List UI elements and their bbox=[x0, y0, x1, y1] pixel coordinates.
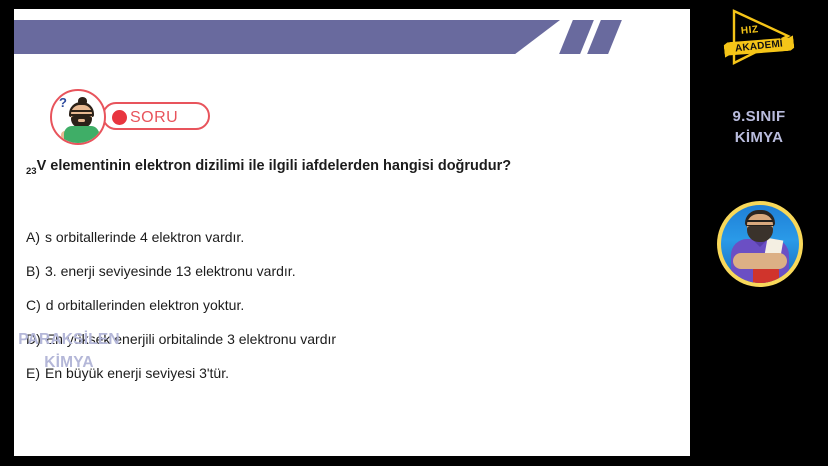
grade-line-1: 9.SINIF bbox=[690, 106, 828, 127]
soru-pill: SORU bbox=[102, 102, 210, 130]
question-subscript: 23 bbox=[26, 166, 37, 177]
option-b[interactable]: B) 3. enerji seviyesinde 13 elektronu va… bbox=[26, 261, 626, 281]
option-c[interactable]: C) d orbitallerinden elektron yoktur. bbox=[26, 295, 626, 315]
question-mark-icon: ? bbox=[59, 96, 67, 109]
option-a[interactable]: A) s orbitallerinde 4 elektron vardır. bbox=[26, 227, 626, 247]
banner-bar bbox=[14, 20, 560, 54]
soru-dot-icon bbox=[112, 110, 127, 125]
header-banner bbox=[14, 20, 690, 54]
option-c-key: C) bbox=[26, 295, 41, 315]
question-text: 23V elementinin elektron dizilimi ile il… bbox=[26, 155, 566, 183]
logo-top-word: HIZ bbox=[740, 24, 759, 37]
subject-line-1: PARAKSİLEN bbox=[0, 328, 138, 351]
option-c-text: d orbitallerinden elektron yoktur. bbox=[46, 295, 244, 315]
grade-line-2: KİMYA bbox=[690, 127, 828, 148]
brand-logo-icon: HIZ AKADEMİ bbox=[714, 6, 804, 70]
teacher-red-element bbox=[753, 267, 779, 283]
avatar-mouth bbox=[78, 119, 85, 122]
avatar-shirt bbox=[64, 126, 99, 145]
option-a-text: s orbitallerinde 4 elektron vardır. bbox=[45, 227, 244, 247]
soru-avatar-icon: ? bbox=[50, 89, 106, 145]
content-card: SORU ? 23V elementinin elektron dizilimi… bbox=[14, 9, 690, 456]
subject-label: PARAKSİLEN KİMYA bbox=[0, 328, 138, 374]
teacher-avatar-photo bbox=[721, 205, 799, 283]
grade-label: 9.SINIF KİMYA bbox=[690, 106, 828, 148]
soru-label: SORU bbox=[130, 107, 178, 128]
option-b-key: B) bbox=[26, 261, 40, 281]
slide-root: SORU ? 23V elementinin elektron dizilimi… bbox=[0, 0, 828, 466]
option-b-text: 3. enerji seviyesinde 13 elektronu vardı… bbox=[45, 261, 296, 281]
teacher-glasses-icon bbox=[747, 220, 773, 226]
teacher-avatar bbox=[717, 201, 803, 287]
question-element-symbol: V bbox=[37, 158, 47, 174]
teacher-arms bbox=[733, 253, 787, 269]
option-a-key: A) bbox=[26, 227, 40, 247]
soru-badge: SORU ? bbox=[50, 89, 210, 145]
banner-stripe-2 bbox=[587, 20, 622, 54]
subject-line-2: KİMYA bbox=[0, 351, 138, 374]
question-body: elementinin elektron dizilimi ile ilgili… bbox=[46, 158, 511, 174]
